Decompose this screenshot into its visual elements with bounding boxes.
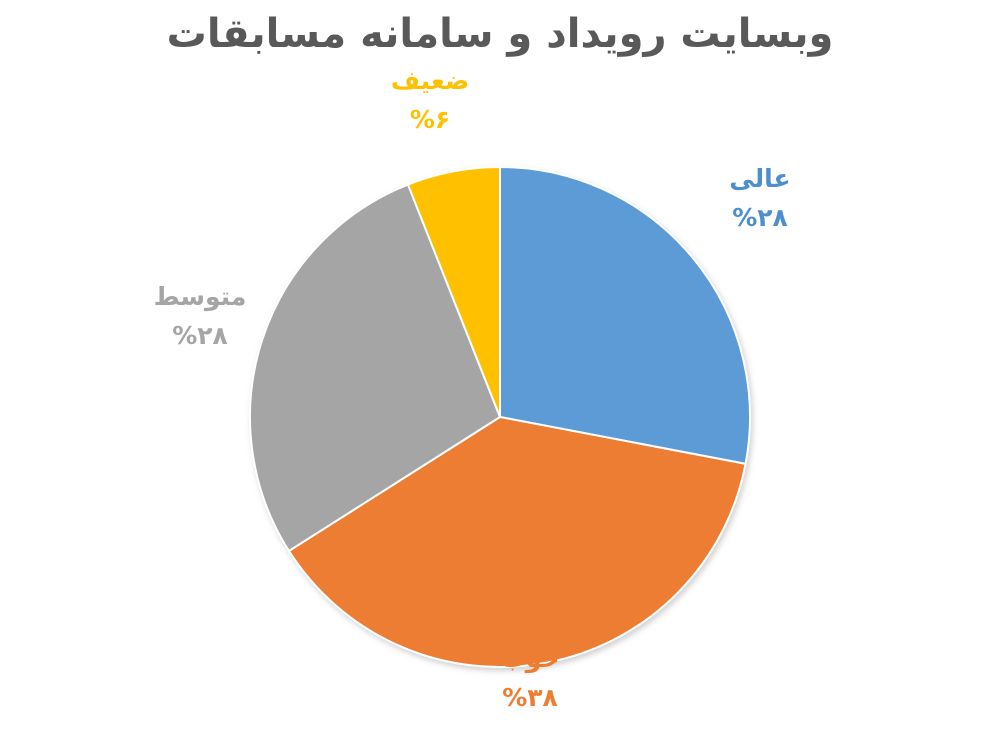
pie-slice-group	[250, 167, 750, 667]
data-label-weak: ضعیف %۶	[330, 62, 530, 140]
data-label-excellent: عالی %۲۸	[660, 160, 860, 238]
data-label-medium-name: متوسط	[100, 278, 300, 317]
data-label-medium-value: %۲۸	[100, 317, 300, 356]
data-label-good: خوب %۳۸	[430, 640, 630, 718]
pie-plot-area	[249, 166, 751, 668]
data-label-weak-value: %۶	[330, 101, 530, 140]
data-label-good-value: %۳۸	[430, 679, 630, 718]
pie-chart-figure: وبسایت رویداد و سامانه مسابقات عالی %۲۸ …	[0, 0, 1000, 750]
chart-title: وبسایت رویداد و سامانه مسابقات	[0, 10, 1000, 58]
pie-svg	[249, 166, 751, 668]
data-label-excellent-value: %۲۸	[660, 199, 860, 238]
data-label-excellent-name: عالی	[660, 160, 860, 199]
data-label-good-name: خوب	[430, 640, 630, 679]
data-label-weak-name: ضعیف	[330, 62, 530, 101]
data-label-medium: متوسط %۲۸	[100, 278, 300, 356]
